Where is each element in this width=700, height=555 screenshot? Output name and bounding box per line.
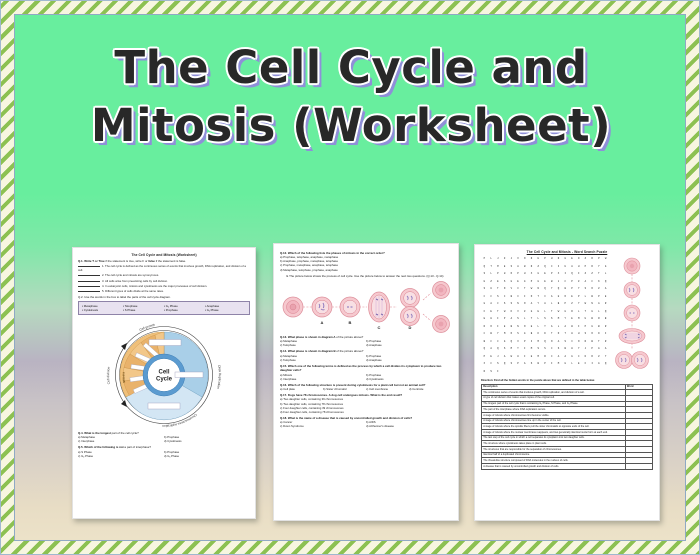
word-search-cell[interactable]: L: [548, 302, 555, 310]
word-search-cell[interactable]: C: [494, 302, 501, 310]
word-search-cell[interactable]: E: [501, 265, 508, 273]
word-search-cell[interactable]: G: [562, 362, 569, 370]
word-search-cell[interactable]: W: [521, 265, 528, 273]
word-search-cell[interactable]: D: [542, 332, 549, 340]
option[interactable]: b) Sister chromatid: [323, 387, 366, 391]
word-search-cell[interactable]: Q: [542, 340, 549, 348]
word-search-cell[interactable]: O: [508, 272, 515, 280]
word-search-cell[interactable]: R: [481, 370, 488, 378]
word-search-cell[interactable]: A: [488, 302, 495, 310]
word-search-cell[interactable]: G: [602, 265, 609, 273]
word-search-cell[interactable]: Y: [542, 325, 549, 333]
word-search-cell[interactable]: P: [582, 265, 589, 273]
option[interactable]: d) Cytokinesis: [164, 439, 250, 443]
word-search-cell[interactable]: H: [575, 265, 582, 273]
word-search-cell[interactable]: I: [521, 295, 528, 303]
word-search-cell[interactable]: A: [602, 347, 609, 355]
word-search-cell[interactable]: R: [589, 265, 596, 273]
word-search-cell[interactable]: A: [569, 265, 576, 273]
word-search-cell[interactable]: A: [548, 295, 555, 303]
word-search-cell[interactable]: N: [589, 302, 596, 310]
word-search-cell[interactable]: T: [535, 295, 542, 303]
word-search-cell[interactable]: L: [582, 295, 589, 303]
word-search-cell[interactable]: X: [555, 272, 562, 280]
word-search-cell[interactable]: V: [515, 310, 522, 318]
word-search-cell[interactable]: T: [494, 310, 501, 318]
word-search-cell[interactable]: E: [481, 317, 488, 325]
word-search-cell[interactable]: I: [569, 340, 576, 348]
word-search-cell[interactable]: T: [494, 287, 501, 295]
word-search-cell[interactable]: K: [535, 332, 542, 340]
page2-q12-option-d[interactable]: d) Metaphase, telophase, prophase, anaph…: [280, 268, 452, 272]
word-search-cell[interactable]: P: [501, 317, 508, 325]
word-search-cell[interactable]: S: [582, 287, 589, 295]
word-search-cell[interactable]: I: [521, 347, 528, 355]
word-search-cell[interactable]: B: [555, 302, 562, 310]
word-search-cell[interactable]: Z: [582, 272, 589, 280]
word-search-cell[interactable]: R: [569, 310, 576, 318]
word-search-cell[interactable]: W: [508, 355, 515, 363]
word-search-cell[interactable]: R: [542, 355, 549, 363]
word-search-cell[interactable]: M: [555, 362, 562, 370]
word-search-cell[interactable]: H: [569, 347, 576, 355]
word-search-cell[interactable]: W: [602, 257, 609, 265]
word-search-cell[interactable]: N: [555, 257, 562, 265]
word-search-cell[interactable]: L: [521, 317, 528, 325]
word-search-cell[interactable]: L: [555, 325, 562, 333]
word-search-cell[interactable]: Z: [582, 257, 589, 265]
word-search-cell[interactable]: E: [569, 317, 576, 325]
word-search-cell[interactable]: A: [515, 265, 522, 273]
word-search-cell[interactable]: A: [562, 325, 569, 333]
word-search-cell[interactable]: F: [481, 310, 488, 318]
word-search-cell[interactable]: J: [494, 257, 501, 265]
word-search-cell[interactable]: F: [575, 272, 582, 280]
word-search-cell[interactable]: C: [575, 355, 582, 363]
word-search-cell[interactable]: Y: [602, 355, 609, 363]
word-search-cell[interactable]: T: [582, 310, 589, 318]
word-search-cell[interactable]: E: [515, 280, 522, 288]
word-search-cell[interactable]: Y: [575, 287, 582, 295]
word-search-cell[interactable]: A: [562, 355, 569, 363]
word-search-cell[interactable]: A: [555, 355, 562, 363]
option[interactable]: d) Alzheimer's disease: [366, 424, 452, 428]
word-search-cell[interactable]: I: [515, 295, 522, 303]
word-search-cell[interactable]: H: [535, 257, 542, 265]
word-search-cell[interactable]: Q: [508, 340, 515, 348]
word-search-cell[interactable]: C: [481, 295, 488, 303]
word-search-cell[interactable]: S: [501, 280, 508, 288]
word-search-cell[interactable]: P: [589, 347, 596, 355]
word-search-cell[interactable]: P: [494, 272, 501, 280]
word-search-cell[interactable]: Y: [562, 317, 569, 325]
word-search-cell[interactable]: Y: [575, 347, 582, 355]
word-search-cell[interactable]: N: [528, 265, 535, 273]
word-search-cell[interactable]: M: [494, 265, 501, 273]
word-search-cell[interactable]: W: [555, 310, 562, 318]
word-search-cell[interactable]: S: [508, 302, 515, 310]
word-search-cell[interactable]: Y: [535, 302, 542, 310]
word-search-cell[interactable]: P: [528, 280, 535, 288]
word-search-cell[interactable]: O: [589, 287, 596, 295]
word-search-cell[interactable]: E: [542, 272, 549, 280]
word-search-cell[interactable]: O: [562, 295, 569, 303]
word-search-cell[interactable]: N: [528, 257, 535, 265]
word-search-cell[interactable]: O: [488, 325, 495, 333]
option[interactable]: d) Anaphase: [366, 358, 452, 362]
word-search-cell[interactable]: Y: [575, 302, 582, 310]
word-search-cell[interactable]: S: [501, 347, 508, 355]
word-search-cell[interactable]: S: [481, 287, 488, 295]
option[interactable]: c) G₂ Phase: [78, 454, 164, 458]
word-search-cell[interactable]: M: [528, 347, 535, 355]
word-search-cell[interactable]: Q: [602, 362, 609, 370]
word-search-cell[interactable]: T: [596, 340, 603, 348]
worksheet-page-2[interactable]: Q.12. Which of the following lists the p…: [273, 243, 459, 521]
word-search-cell[interactable]: L: [542, 310, 549, 318]
word-search-cell[interactable]: U: [488, 287, 495, 295]
word-search-cell[interactable]: B: [589, 317, 596, 325]
word-search-cell[interactable]: D: [596, 332, 603, 340]
word-search-cell[interactable]: Q: [602, 310, 609, 318]
word-search-cell[interactable]: Z: [535, 265, 542, 273]
word-search-cell[interactable]: Q: [542, 265, 549, 273]
word-search-cell[interactable]: W: [569, 325, 576, 333]
word-search-cell[interactable]: R: [602, 302, 609, 310]
word-search-cell[interactable]: A: [521, 362, 528, 370]
word-search-cell[interactable]: S: [548, 317, 555, 325]
word-search-cell[interactable]: E: [535, 310, 542, 318]
word-search-cell[interactable]: K: [596, 280, 603, 288]
word-search-cell[interactable]: B: [508, 325, 515, 333]
word-search-cell[interactable]: X: [515, 340, 522, 348]
word-search-cell[interactable]: H: [569, 332, 576, 340]
word-search-cell[interactable]: J: [582, 347, 589, 355]
word-search-cell[interactable]: S: [542, 347, 549, 355]
word-search-cell[interactable]: O: [501, 287, 508, 295]
word-search-cell[interactable]: C: [481, 332, 488, 340]
word-search-cell[interactable]: Y: [548, 287, 555, 295]
word-search-cell[interactable]: D: [575, 257, 582, 265]
word-search-cell[interactable]: P: [515, 362, 522, 370]
word-search-cell[interactable]: L: [535, 317, 542, 325]
word-search-cell[interactable]: P: [569, 280, 576, 288]
option[interactable]: c) Telophase: [280, 358, 366, 362]
word-search-cell[interactable]: G: [521, 332, 528, 340]
word-search-cell[interactable]: S: [488, 370, 495, 378]
word-search-cell[interactable]: X: [481, 362, 488, 370]
word-search-cell[interactable]: Q: [494, 347, 501, 355]
word-search-cell[interactable]: L: [535, 325, 542, 333]
word-search-cell[interactable]: G: [589, 310, 596, 318]
word-search-cell[interactable]: O: [589, 332, 596, 340]
word-search-cell[interactable]: G: [535, 272, 542, 280]
word-search-cell[interactable]: S: [528, 362, 535, 370]
word-search-cell[interactable]: B: [562, 347, 569, 355]
word-search-cell[interactable]: Z: [521, 310, 528, 318]
word-search-cell[interactable]: L: [596, 310, 603, 318]
word-search-cell[interactable]: P: [548, 272, 555, 280]
word-search-cell[interactable]: B: [596, 325, 603, 333]
word-search-cell[interactable]: N: [535, 287, 542, 295]
word-search-cell[interactable]: Y: [494, 332, 501, 340]
word-search-cell[interactable]: I: [494, 370, 501, 378]
word-search-cell[interactable]: T: [596, 272, 603, 280]
word-search-cell[interactable]: E: [569, 257, 576, 265]
word-search-cell[interactable]: F: [582, 362, 589, 370]
word-search-cell[interactable]: S: [582, 332, 589, 340]
word-search-cell[interactable]: T: [548, 332, 555, 340]
word-search-cell[interactable]: Z: [596, 355, 603, 363]
word-search-cell[interactable]: I: [494, 325, 501, 333]
word-search-cell[interactable]: P: [562, 302, 569, 310]
word-search-cell[interactable]: I: [555, 265, 562, 273]
word-search-cell[interactable]: T: [515, 347, 522, 355]
word-search-cell[interactable]: I: [515, 287, 522, 295]
word-search-cell[interactable]: E: [528, 355, 535, 363]
word-search-cell[interactable]: Z: [596, 287, 603, 295]
word-search-cell[interactable]: M: [535, 340, 542, 348]
word-search-cell[interactable]: T: [488, 265, 495, 273]
word-search-cell[interactable]: G: [521, 280, 528, 288]
word-search-cell[interactable]: A: [528, 302, 535, 310]
word-search-cell[interactable]: A: [548, 325, 555, 333]
word-search-cell[interactable]: W: [501, 310, 508, 318]
word-search-cell[interactable]: P: [481, 257, 488, 265]
word-search-cell[interactable]: I: [562, 272, 569, 280]
word-search-cell[interactable]: W: [528, 287, 535, 295]
word-search-cell[interactable]: B: [528, 332, 535, 340]
word-search-cell[interactable]: H: [501, 272, 508, 280]
word-search-cell[interactable]: V: [508, 287, 515, 295]
word-search-cell[interactable]: B: [488, 332, 495, 340]
word-search-cell[interactable]: C: [501, 295, 508, 303]
word-search-cell[interactable]: S: [481, 272, 488, 280]
word-search-cell[interactable]: P: [596, 257, 603, 265]
answer-blank[interactable]: [78, 272, 100, 276]
word-search-cell[interactable]: Q: [481, 265, 488, 273]
word-search-cell[interactable]: B: [481, 340, 488, 348]
word-search-cell[interactable]: R: [589, 257, 596, 265]
word-search-cell[interactable]: Q: [542, 287, 549, 295]
word-search-cell[interactable]: S: [501, 302, 508, 310]
word-search-cell[interactable]: S: [515, 317, 522, 325]
option[interactable]: c) Telophase: [280, 343, 366, 347]
option[interactable]: d) G₁ Phase: [164, 454, 250, 458]
word-search-cell[interactable]: Q: [569, 272, 576, 280]
word-search-cell[interactable]: U: [582, 317, 589, 325]
word-search-cell[interactable]: Q: [501, 362, 508, 370]
word-search-cell[interactable]: N: [515, 302, 522, 310]
word-search-cell[interactable]: P: [575, 295, 582, 303]
word-search-cell[interactable]: S: [508, 362, 515, 370]
word-search-cell[interactable]: G: [535, 280, 542, 288]
word-search-cell[interactable]: G: [596, 362, 603, 370]
word-search-cell[interactable]: P: [542, 257, 549, 265]
word-search-cell[interactable]: O: [521, 257, 528, 265]
word-search-cell[interactable]: S: [494, 362, 501, 370]
option[interactable]: c) Cell membrane: [366, 387, 409, 391]
page2-q17-option-d[interactable]: d) Four daughter cells, containing 78 ch…: [280, 410, 452, 414]
word-search-cell[interactable]: L: [488, 272, 495, 280]
word-search-cell[interactable]: E: [575, 362, 582, 370]
word-search-cell[interactable]: C: [548, 265, 555, 273]
word-search-cell[interactable]: P: [521, 340, 528, 348]
word-search-cell[interactable]: E: [528, 325, 535, 333]
word-search-cell[interactable]: E: [602, 295, 609, 303]
word-search-cell[interactable]: P: [596, 295, 603, 303]
word-search-cell[interactable]: E: [494, 280, 501, 288]
word-search-cell[interactable]: C: [589, 280, 596, 288]
word-search-cell[interactable]: O: [521, 302, 528, 310]
word-search-cell[interactable]: T: [562, 332, 569, 340]
word-search-cell[interactable]: R: [582, 340, 589, 348]
word-search-cell[interactable]: U: [562, 265, 569, 273]
option[interactable]: d) Anaphase: [366, 343, 452, 347]
word-search-cell[interactable]: B: [589, 295, 596, 303]
word-search-grid[interactable]: PLJZJXONHPHNGEDZRPWQTMESAWNZQCIUAHPRYGSL…: [481, 257, 609, 377]
word-search-cell[interactable]: Z: [488, 280, 495, 288]
word-search-cell[interactable]: L: [575, 310, 582, 318]
answer-blank[interactable]: [78, 263, 100, 267]
answer-blank[interactable]: [78, 288, 100, 292]
word-search-cell[interactable]: S: [508, 265, 515, 273]
word-search-cell[interactable]: H: [548, 257, 555, 265]
word-search-cell[interactable]: A: [596, 302, 603, 310]
table-cell-word-answer[interactable]: [625, 464, 652, 470]
word-search-cell[interactable]: Q: [602, 280, 609, 288]
word-search-cell[interactable]: J: [494, 355, 501, 363]
word-search-cell[interactable]: I: [589, 362, 596, 370]
word-search-cell[interactable]: O: [528, 295, 535, 303]
word-search-cell[interactable]: S: [562, 340, 569, 348]
word-search-cell[interactable]: O: [555, 332, 562, 340]
word-search-cell[interactable]: C: [494, 340, 501, 348]
word-search-cell[interactable]: A: [555, 340, 562, 348]
word-search-cell[interactable]: A: [501, 355, 508, 363]
word-search-cell[interactable]: G: [528, 310, 535, 318]
word-search-cell[interactable]: E: [488, 355, 495, 363]
word-search-cell[interactable]: G: [596, 347, 603, 355]
word-search-cell[interactable]: Q: [481, 347, 488, 355]
word-search-cell[interactable]: X: [528, 272, 535, 280]
word-search-cell[interactable]: P: [515, 272, 522, 280]
word-search-cell[interactable]: I: [521, 355, 528, 363]
word-search-cell[interactable]: B: [589, 340, 596, 348]
word-search-cell[interactable]: N: [515, 325, 522, 333]
word-search-cell[interactable]: E: [501, 325, 508, 333]
option[interactable]: c) Interphase: [78, 439, 164, 443]
word-search-cell[interactable]: L: [569, 362, 576, 370]
word-search-cell[interactable]: I: [494, 317, 501, 325]
word-search-cell[interactable]: O: [508, 332, 515, 340]
worksheet-page-3[interactable]: The Cell Cycle and Mitosis - Word Search…: [474, 244, 660, 521]
word-search-cell[interactable]: I: [542, 295, 549, 303]
word-search-cell[interactable]: J: [508, 257, 515, 265]
word-search-cell[interactable]: W: [582, 302, 589, 310]
word-search-cell[interactable]: B: [508, 295, 515, 303]
word-search-cell[interactable]: G: [589, 325, 596, 333]
word-search-cell[interactable]: H: [555, 295, 562, 303]
word-search-cell[interactable]: W: [562, 287, 569, 295]
word-search-cell[interactable]: R: [596, 317, 603, 325]
word-search-cell[interactable]: C: [488, 295, 495, 303]
word-search-cell[interactable]: P: [481, 355, 488, 363]
word-search-cell[interactable]: I: [548, 362, 555, 370]
word-search-cell[interactable]: C: [488, 340, 495, 348]
word-search-cell[interactable]: A: [488, 347, 495, 355]
word-search-cell[interactable]: L: [488, 257, 495, 265]
word-search-cell[interactable]: B: [602, 317, 609, 325]
word-search-cell[interactable]: T: [548, 310, 555, 318]
word-search-cell[interactable]: E: [488, 310, 495, 318]
word-search-cell[interactable]: Z: [569, 302, 576, 310]
word-search-cell[interactable]: G: [481, 302, 488, 310]
worksheet-page-1[interactable]: The Cell Cycle and Mitosis (Worksheet) Q…: [72, 247, 256, 519]
word-search-cell[interactable]: G: [562, 310, 569, 318]
word-search-cell[interactable]: M: [501, 332, 508, 340]
answer-blank[interactable]: [78, 278, 100, 282]
word-search-cell[interactable]: P: [542, 362, 549, 370]
word-search-cell[interactable]: R: [602, 340, 609, 348]
word-search-cell[interactable]: H: [521, 272, 528, 280]
word-search-cell[interactable]: X: [515, 257, 522, 265]
word-search-cell[interactable]: S: [542, 317, 549, 325]
option[interactable]: d) Centriole: [409, 387, 452, 391]
word-search-cell[interactable]: O: [548, 340, 555, 348]
word-search-cell[interactable]: E: [569, 295, 576, 303]
word-search-cell[interactable]: G: [501, 340, 508, 348]
word-search-cell[interactable]: C: [562, 280, 569, 288]
option[interactable]: c) Down Syndrome: [280, 424, 366, 428]
word-search-cell[interactable]: N: [481, 325, 488, 333]
word-search-cell[interactable]: S: [494, 295, 501, 303]
word-search-cell[interactable]: A: [542, 302, 549, 310]
word-search-cell[interactable]: O: [521, 325, 528, 333]
word-search-cell[interactable]: P: [569, 287, 576, 295]
word-search-cell[interactable]: I: [528, 340, 535, 348]
word-search-cell[interactable]: Z: [589, 272, 596, 280]
word-search-cell[interactable]: A: [508, 317, 515, 325]
word-search-cell[interactable]: S: [555, 347, 562, 355]
word-search-cell[interactable]: Y: [528, 317, 535, 325]
word-search-cell[interactable]: W: [548, 280, 555, 288]
word-search-cell[interactable]: U: [515, 355, 522, 363]
word-search-cell[interactable]: A: [582, 280, 589, 288]
word-search-cell[interactable]: G: [562, 257, 569, 265]
word-search-cell[interactable]: R: [589, 355, 596, 363]
word-search-cell[interactable]: O: [575, 340, 582, 348]
word-search-cell[interactable]: G: [569, 355, 576, 363]
word-search-cell[interactable]: D: [582, 355, 589, 363]
word-search-cell[interactable]: S: [535, 347, 542, 355]
word-search-cell[interactable]: J: [555, 280, 562, 288]
answer-blank[interactable]: [78, 283, 100, 287]
word-search-cell[interactable]: A: [602, 287, 609, 295]
word-search-cell[interactable]: C: [488, 362, 495, 370]
option[interactable]: d) Cytokinesis: [366, 377, 452, 381]
word-search-cell[interactable]: Q: [555, 287, 562, 295]
option[interactable]: c) Interphase: [280, 377, 366, 381]
word-search-cell[interactable]: H: [488, 317, 495, 325]
word-search-cell[interactable]: K: [508, 310, 515, 318]
word-search-cell[interactable]: T: [521, 287, 528, 295]
word-search-cell[interactable]: Y: [596, 265, 603, 273]
word-search-cell[interactable]: B: [535, 362, 542, 370]
word-search-cell[interactable]: G: [508, 280, 515, 288]
word-search-cell[interactable]: Z: [575, 280, 582, 288]
word-search-cell[interactable]: M: [575, 317, 582, 325]
